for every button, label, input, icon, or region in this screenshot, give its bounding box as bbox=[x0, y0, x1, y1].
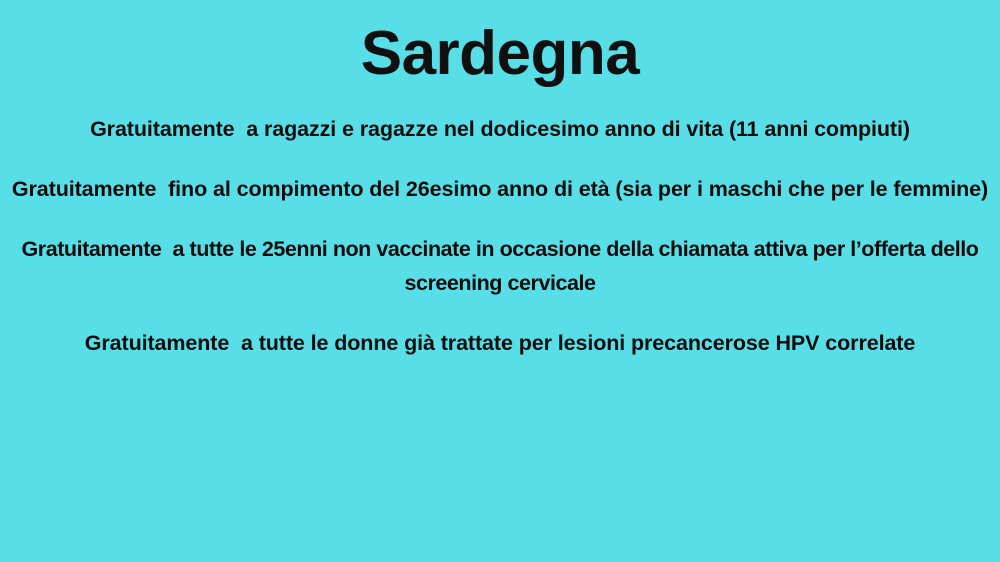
eligibility-paragraph-treated-lesions: Gratuitamente a tutte le donne già tratt… bbox=[4, 326, 996, 360]
page-title: Sardegna bbox=[0, 21, 1000, 88]
eligibility-paragraph-12th-year: Gratuitamente a ragazzi e ragazze nel do… bbox=[4, 112, 996, 146]
eligibility-paragraph-25-year-olds: Gratuitamente a tutte le 25enni non vacc… bbox=[4, 232, 996, 300]
eligibility-paragraph-until-26: Gratuitamente fino al compimento del 26e… bbox=[4, 172, 996, 206]
presentation-slide: Sardegna Gratuitamente a ragazzi e ragaz… bbox=[0, 0, 1000, 562]
slide-body: Gratuitamente a ragazzi e ragazze nel do… bbox=[0, 112, 1000, 360]
